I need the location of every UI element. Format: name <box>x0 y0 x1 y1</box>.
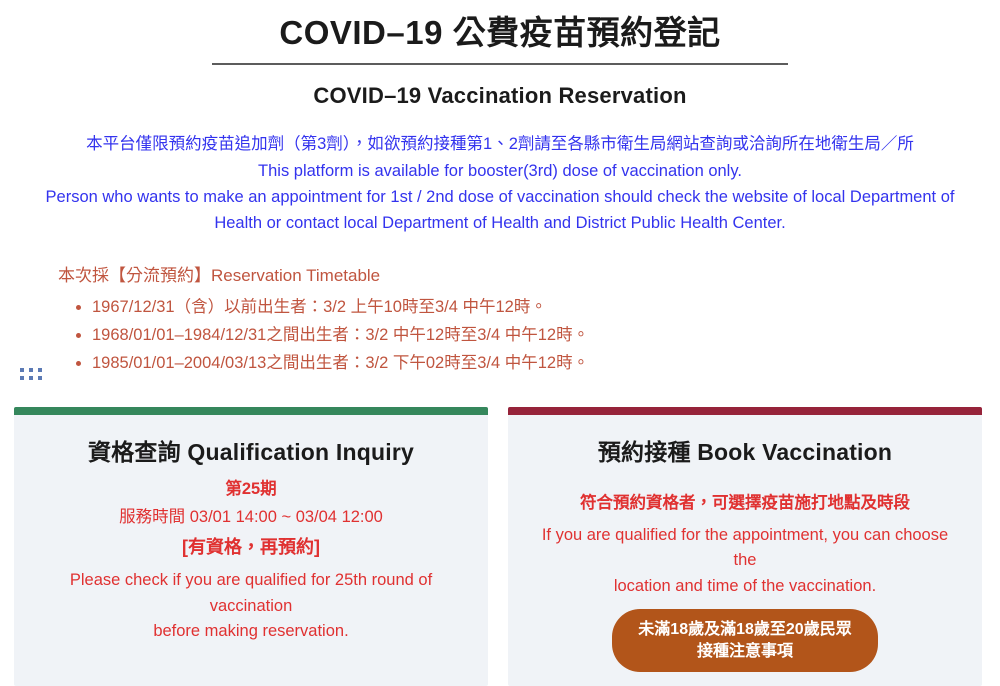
grid-dot <box>29 376 33 380</box>
grid-dots-icon[interactable] <box>20 368 42 382</box>
timetable-heading: 本次採【分流預約】Reservation Timetable <box>58 263 1000 289</box>
minor-notice-button-line-1: 未滿18歲及滿18歲至20歲民眾 <box>638 619 851 641</box>
action-cards: 資格查詢 Qualification Inquiry 第25期 服務時間 03/… <box>14 407 982 686</box>
service-time: 服務時間 03/01 14:00 ~ 03/04 12:00 <box>30 505 472 531</box>
timetable-list: 1967/12/31（含）以前出生者：3/2 上午10時至3/4 中午12時。 … <box>58 294 1000 377</box>
card-accent-bar-green <box>14 407 488 415</box>
grid-dot <box>20 368 24 372</box>
card-title-booking: 預約接種 Book Vaccination <box>524 407 966 467</box>
grid-dot <box>29 368 33 372</box>
card-qualification-inquiry[interactable]: 資格查詢 Qualification Inquiry 第25期 服務時間 03/… <box>14 407 488 686</box>
booking-description-line-1: If you are qualified for the appointment… <box>534 523 956 574</box>
qualification-description-line-1: Please check if you are qualified for 25… <box>40 568 462 619</box>
title-divider <box>212 63 788 65</box>
grid-dot <box>20 376 24 380</box>
booster-notice: 本平台僅限預約疫苗追加劑（第3劑），如欲預約接種第1、2劑請至各縣市衛生局網站查… <box>0 131 1000 237</box>
booster-notice-line-4: Health or contact local Department of He… <box>14 210 986 236</box>
list-item: 1967/12/31（含）以前出生者：3/2 上午10時至3/4 中午12時。 <box>92 294 1000 322</box>
page-root: COVID–19 公費疫苗預約登記 COVID–19 Vaccination R… <box>0 0 1000 620</box>
reservation-timetable: 本次採【分流預約】Reservation Timetable 1967/12/3… <box>0 263 1000 378</box>
grid-dot <box>38 368 42 372</box>
list-item: 1985/01/01–2004/03/13之間出生者：3/2 下午02時至3/4… <box>92 350 1000 378</box>
list-item: 1968/01/01–1984/12/31之間出生者：3/2 中午12時至3/4… <box>92 322 1000 350</box>
minor-notice-button-line-2: 接種注意事項 <box>638 641 851 663</box>
minor-vaccination-notice-button[interactable]: 未滿18歲及滿18歲至20歲民眾 接種注意事項 <box>612 609 877 672</box>
booster-notice-line-2: This platform is available for booster(3… <box>14 158 986 184</box>
round-label: 第25期 <box>30 477 472 503</box>
page-title-en: COVID–19 Vaccination Reservation <box>0 83 1000 109</box>
card-book-vaccination[interactable]: 預約接種 Book Vaccination 符合預約資格者，可選擇疫苗施打地點及… <box>508 407 982 686</box>
page-title-zh: COVID–19 公費疫苗預約登記 <box>0 12 1000 53</box>
booster-notice-line-3: Person who wants to make an appointment … <box>14 184 986 210</box>
page-header: COVID–19 公費疫苗預約登記 COVID–19 Vaccination R… <box>0 0 1000 109</box>
qualification-bracket-note: [有資格，再預約] <box>30 534 472 562</box>
card-title-qualification: 資格查詢 Qualification Inquiry <box>30 407 472 467</box>
qualification-description-line-2: before making reservation. <box>40 619 462 645</box>
booster-notice-line-1: 本平台僅限預約疫苗追加劑（第3劑），如欲預約接種第1、2劑請至各縣市衛生局網站查… <box>14 131 986 157</box>
grid-dot <box>38 376 42 380</box>
card-accent-bar-maroon <box>508 407 982 415</box>
booking-description-line-2: location and time of the vaccination. <box>534 574 956 600</box>
booking-subtitle-zh: 符合預約資格者，可選擇疫苗施打地點及時段 <box>524 491 966 517</box>
